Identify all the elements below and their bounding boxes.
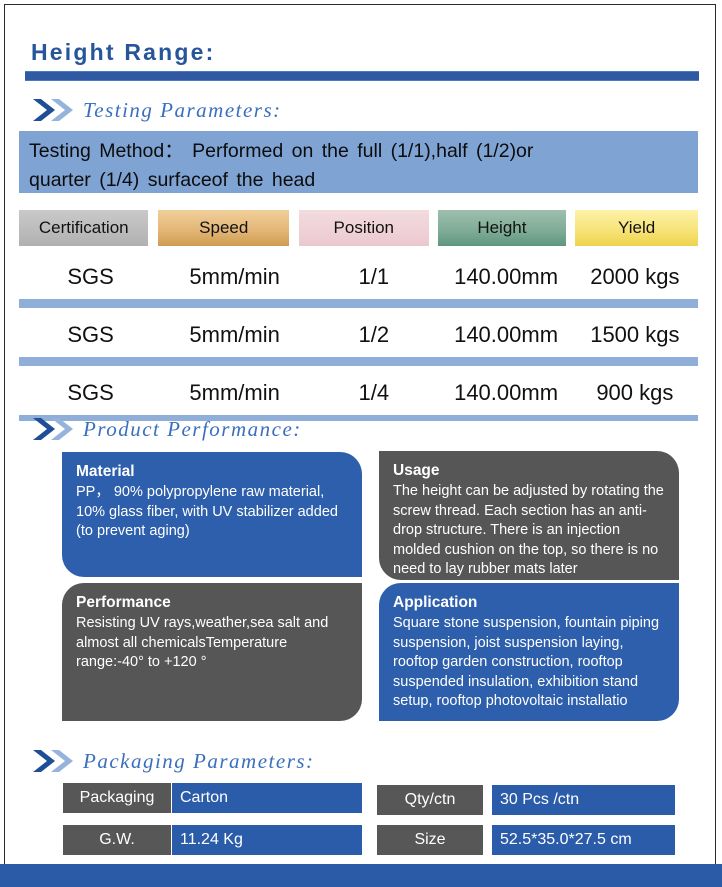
table-row: SGS 5mm/min 1/1 140.00mm 2000 kgs [19, 255, 698, 299]
cell-yield: 1500 kgs [572, 322, 698, 348]
column-header-position: Position [299, 210, 428, 246]
cell-certification: SGS [19, 264, 162, 290]
packaging-key-size: Size [377, 825, 483, 855]
header-gap [429, 210, 439, 246]
cell-height: 140.00mm [440, 380, 571, 406]
footer-bar [0, 864, 722, 887]
cell-speed: 5mm/min [162, 380, 307, 406]
testing-method-line-2: quarter (1/4) surfaceof the head [29, 166, 688, 195]
packaging-key-packaging: Packaging [63, 783, 171, 813]
card-usage: Usage The height can be adjusted by rota… [379, 451, 679, 580]
card-title-material: Material [76, 462, 348, 482]
table-header-row: Certification Speed Position Height Yiel… [19, 210, 698, 246]
section-header-performance: Product Performance: [31, 416, 302, 442]
column-header-certification: Certification [19, 210, 148, 246]
card-body-material: PP， 90% polypropylene raw material, 10% … [76, 483, 348, 542]
cell-height: 140.00mm [440, 322, 571, 348]
packaging-value-qty: 30 Pcs /ctn [492, 785, 675, 815]
cell-certification: SGS [19, 380, 162, 406]
cell-certification: SGS [19, 322, 162, 348]
cell-position: 1/4 [307, 380, 440, 406]
header-gap [148, 210, 158, 246]
cell-speed: 5mm/min [162, 264, 307, 290]
spec-sheet-page: Height Range: Testing Parameters: Testin… [4, 4, 716, 875]
packaging-value-packaging: Carton [172, 783, 362, 813]
section-header-testing: Testing Parameters: [31, 97, 282, 123]
column-header-speed: Speed [158, 210, 289, 246]
table-row: SGS 5mm/min 1/2 140.00mm 1500 kgs [19, 313, 698, 357]
column-header-yield: Yield [575, 210, 698, 246]
double-chevron-icon [31, 97, 77, 123]
header-gap [289, 210, 299, 246]
testing-method-banner: Testing Method： Performed on the full (1… [19, 131, 698, 193]
double-chevron-icon [31, 748, 77, 774]
spec-table: Certification Speed Position Height Yiel… [19, 210, 698, 421]
card-body-usage: The height can be adjusted by rotating t… [393, 482, 665, 580]
card-performance: Performance Resisting UV rays,weather,se… [62, 583, 362, 721]
testing-method-line-1: Testing Method： Performed on the full (1… [29, 137, 688, 166]
card-application: Application Square stone suspension, fou… [379, 583, 679, 721]
row-divider [19, 299, 698, 308]
cell-speed: 5mm/min [162, 322, 307, 348]
packaging-key-qty: Qty/ctn [377, 785, 483, 815]
section-title-packaging: Packaging Parameters: [83, 749, 315, 774]
title-divider [25, 71, 699, 81]
card-title-application: Application [393, 593, 665, 613]
page-title: Height Range: [31, 39, 216, 66]
section-title-performance: Product Performance: [83, 417, 302, 442]
row-divider [19, 357, 698, 366]
card-title-performance: Performance [76, 593, 348, 613]
packaging-key-gw: G.W. [63, 825, 171, 855]
packaging-value-size: 52.5*35.0*27.5 cm [492, 825, 675, 855]
card-title-usage: Usage [393, 461, 665, 481]
packaging-value-gw: 11.24 Kg [172, 825, 362, 855]
cell-yield: 900 kgs [572, 380, 698, 406]
card-material: Material PP， 90% polypropylene raw mater… [62, 452, 362, 577]
column-header-height: Height [438, 210, 566, 246]
section-header-packaging: Packaging Parameters: [31, 748, 315, 774]
card-body-performance: Resisting UV rays,weather,sea salt and a… [76, 614, 348, 673]
card-body-application: Square stone suspension, fountain piping… [393, 614, 665, 712]
cell-height: 140.00mm [440, 264, 571, 290]
double-chevron-icon [31, 416, 77, 442]
table-row: SGS 5mm/min 1/4 140.00mm 900 kgs [19, 371, 698, 415]
header-gap [566, 210, 576, 246]
section-title-testing: Testing Parameters: [83, 98, 282, 123]
cell-yield: 2000 kgs [572, 264, 698, 290]
cell-position: 1/1 [307, 264, 440, 290]
cell-position: 1/2 [307, 322, 440, 348]
